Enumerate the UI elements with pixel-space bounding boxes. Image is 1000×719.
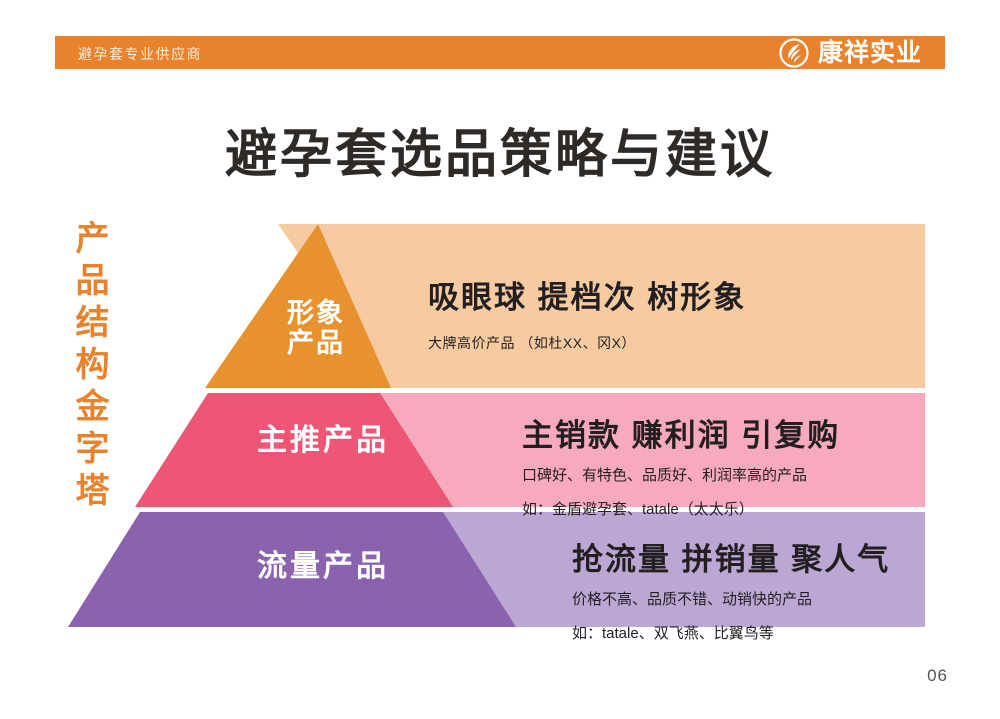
leaf-swirl-logo-icon xyxy=(779,38,809,68)
tier-3-subline-1: 价格不高、品质不错、动销快的产品 xyxy=(572,587,890,613)
tier-2-subline-1: 口碑好、有特色、品质好、利润率高的产品 xyxy=(522,463,840,489)
tier-1-body: 吸眼球 提档次 树形象 大牌高价产品 （如杜XX、冈X） xyxy=(428,272,746,353)
tier-2-label: 主推产品 xyxy=(228,424,418,458)
page-number: 06 xyxy=(927,666,948,686)
tier-1-headline: 吸眼球 提档次 树形象 xyxy=(428,272,746,317)
tier-2-body: 主销款 赚利润 引复购 口碑好、有特色、品质好、利润率高的产品 如：金盾避孕套、… xyxy=(522,410,840,524)
tier-1-subline-1: 大牌高价产品 （如杜XX、冈X） xyxy=(428,333,746,353)
tier-1-label: 形象 产品 xyxy=(262,298,370,358)
header-tagline: 避孕套专业供应商 xyxy=(78,44,202,64)
tier-2-headline: 主销款 赚利润 引复购 xyxy=(522,410,840,455)
tier-2-subline-2: 如：金盾避孕套、tatale（太太乐） xyxy=(522,497,840,523)
side-vertical-label: 产品结构金字塔 xyxy=(60,220,106,514)
tier-3-label: 流量产品 xyxy=(228,550,418,584)
tier-3-headline: 抢流量 拼销量 聚人气 xyxy=(572,534,890,579)
tier-3-subline-2: 如：tatale、双飞燕、比翼鸟等 xyxy=(572,621,890,647)
page-title: 避孕套选品策略与建议 xyxy=(0,112,1000,187)
tier-3-body: 抢流量 拼销量 聚人气 价格不高、品质不错、动销快的产品 如：tatale、双飞… xyxy=(572,534,890,648)
slide-canvas: 避孕套专业供应商 康祥实业 避孕套选品策略与建议 产品结构金字塔 形象 产品 主… xyxy=(0,0,1000,719)
logo-text: 康祥实业 xyxy=(818,38,922,68)
company-logo: 康祥实业 xyxy=(779,38,922,68)
